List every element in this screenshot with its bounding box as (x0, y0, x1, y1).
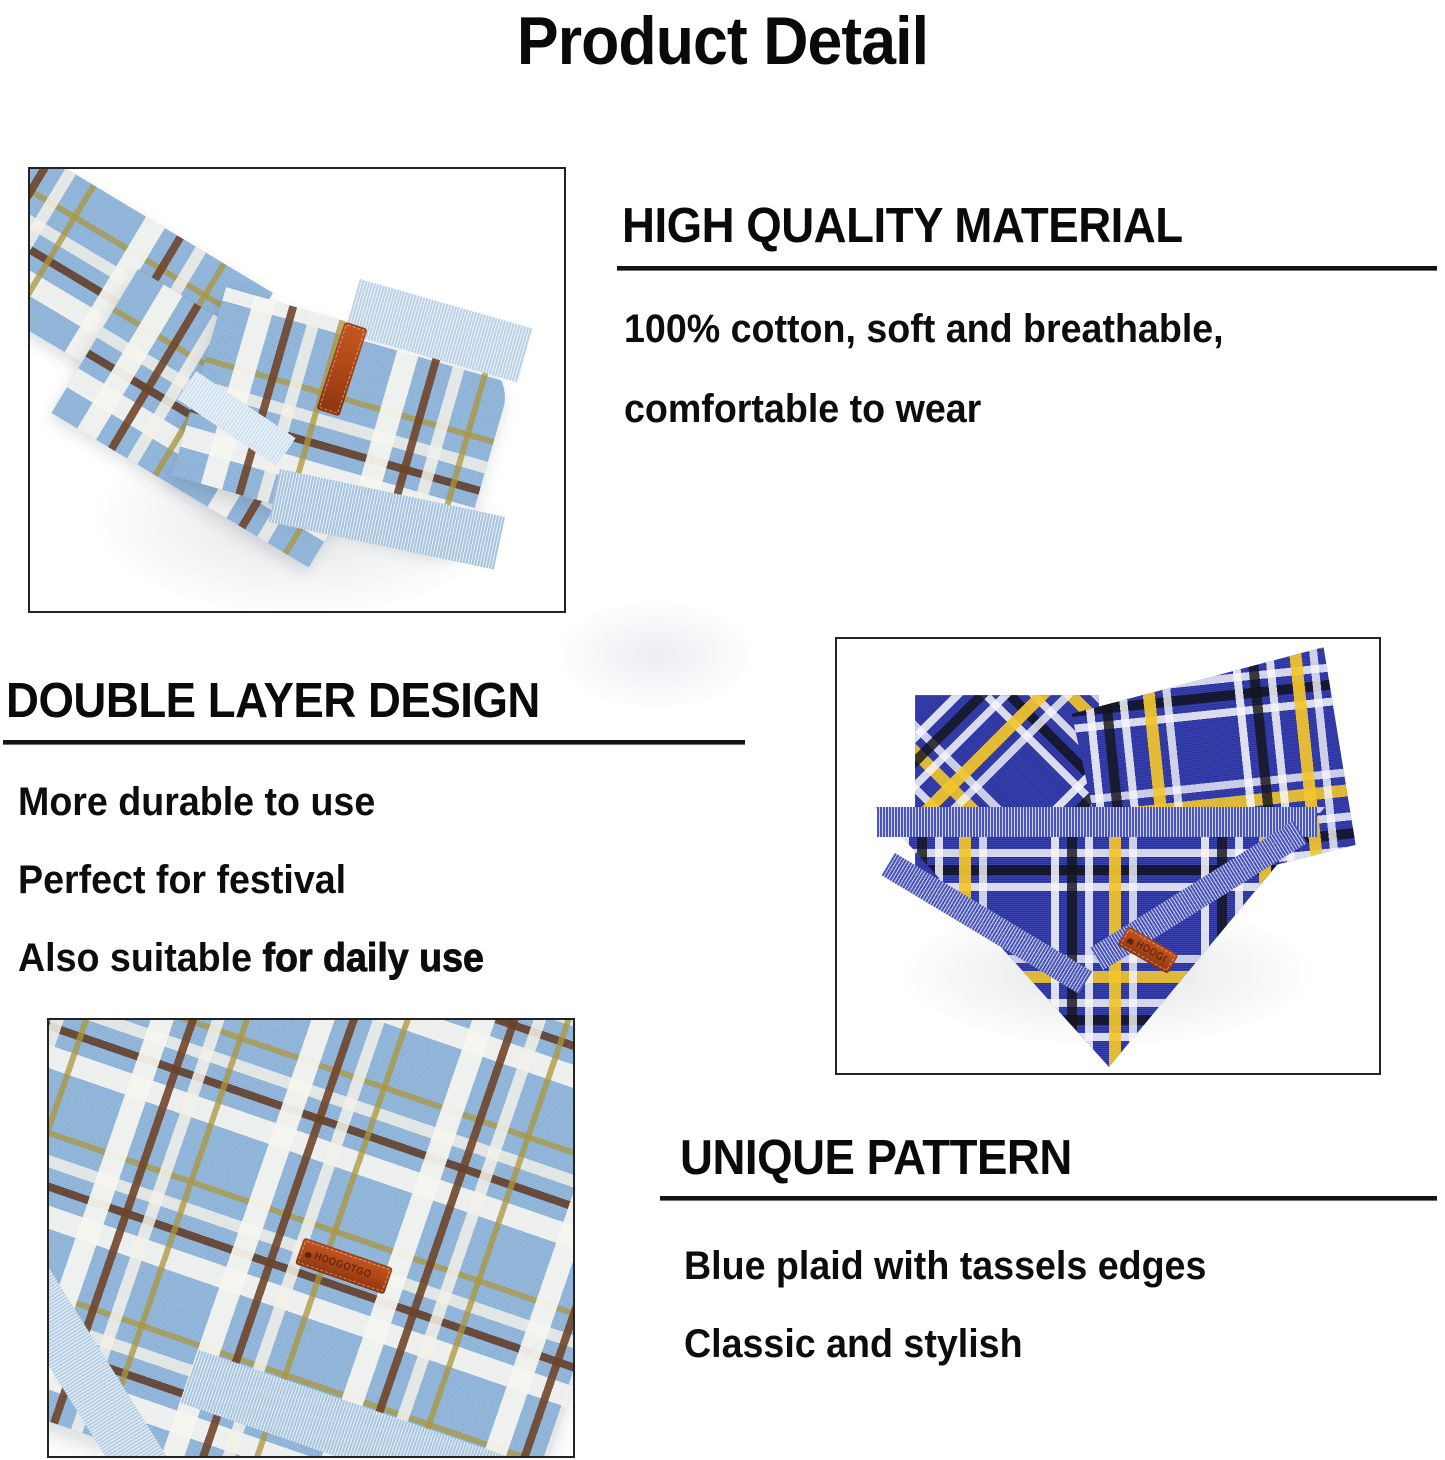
section-body-line-hqm-2: comfortable to wear (624, 386, 981, 432)
product-photo-royal-blue-bandana: HOOGOTGO (835, 637, 1381, 1075)
section-body-line-dld-3: Also suitable for daily use (18, 935, 484, 981)
photo-canvas-royal-bandana: HOOGOTGO (837, 639, 1379, 1073)
product-photo-lightblue-corner: HOOGOTGO (47, 1018, 575, 1458)
section-heading-double-layer-design: DOUBLE LAYER DESIGN (6, 673, 540, 729)
section-body-line-up-1: Blue plaid with tassels edges (684, 1243, 1206, 1289)
background-haze (556, 600, 756, 710)
section-rule-unique-pattern (660, 1196, 1437, 1201)
section-body-line-hqm-1: 100% cotton, soft and breathable, (624, 306, 1224, 352)
photo-canvas-folded-scarf (30, 169, 564, 611)
page-title: Product Detail (58, 2, 1387, 80)
body-text-normal: Also suitable (18, 936, 262, 980)
body-text-emphasis: for daily use (262, 936, 483, 980)
product-photo-folded-scarf (28, 167, 566, 613)
section-heading-unique-pattern: UNIQUE PATTERN (680, 1130, 1072, 1186)
section-body-line-dld-1: More durable to use (18, 779, 375, 825)
section-rule-high-quality-material (617, 266, 1437, 271)
section-body-line-dld-2: Perfect for festival (18, 857, 346, 903)
photo-canvas-lightblue-corner: HOOGOTGO (49, 1020, 573, 1456)
section-body-line-up-2: Classic and stylish (684, 1321, 1023, 1367)
tassel-fringe-top-edge (877, 807, 1317, 837)
section-heading-high-quality-material: HIGH QUALITY MATERIAL (622, 198, 1183, 254)
section-rule-double-layer-design (3, 740, 745, 745)
product-detail-page: Product Detail HIGH QUALITY MATERIAL 100… (0, 0, 1445, 1460)
